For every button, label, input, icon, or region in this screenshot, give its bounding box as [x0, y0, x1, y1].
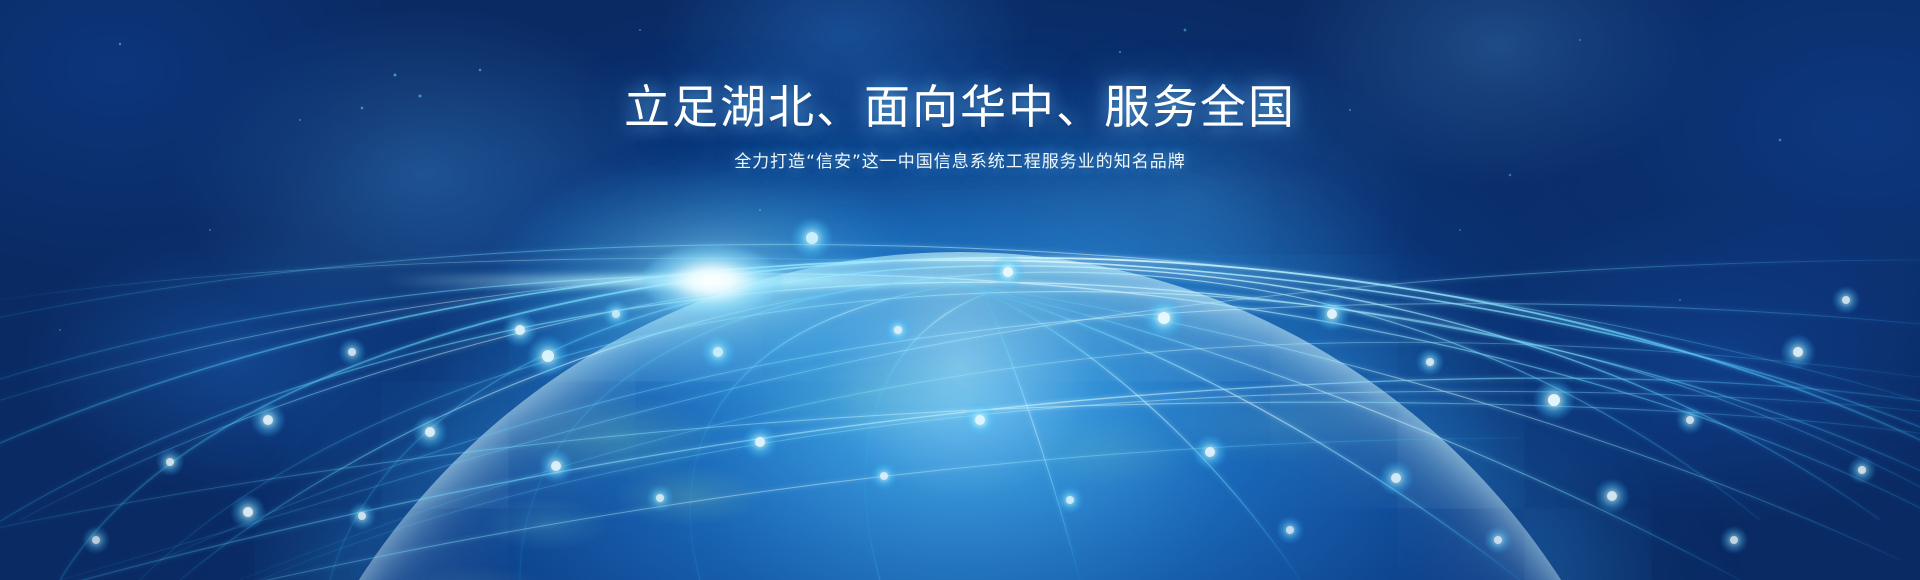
network-node [92, 536, 100, 544]
network-node [551, 461, 561, 471]
network-node [1842, 296, 1850, 304]
network-node [1327, 309, 1337, 319]
banner-text-block: 立足湖北、面向华中、服务全国 全力打造“信安”这一中国信息系统工程服务业的知名品… [0, 80, 1920, 174]
network-node [243, 507, 253, 517]
network-node [263, 415, 273, 425]
network-node [425, 427, 435, 437]
banner-subheadline: 全力打造“信安”这一中国信息系统工程服务业的知名品牌 [0, 150, 1920, 174]
network-node [1158, 312, 1170, 324]
network-node [1793, 347, 1803, 357]
network-node [755, 437, 765, 447]
network-arc [0, 274, 1920, 540]
network-node [1607, 491, 1617, 501]
network-node [975, 415, 985, 425]
network-arc [260, 391, 1920, 580]
network-node [1494, 536, 1502, 544]
network-node [880, 472, 888, 480]
network-node [1205, 447, 1215, 457]
banner-headline: 立足湖北、面向华中、服务全国 [0, 80, 1920, 134]
network-node [656, 494, 664, 502]
network-arc [0, 402, 1920, 540]
network-node [1391, 473, 1401, 483]
flare-core [642, 245, 782, 317]
network-node [1548, 394, 1560, 406]
network-node [358, 512, 366, 520]
network-arc [0, 378, 1920, 580]
network-node [1066, 496, 1074, 504]
network-node [1686, 416, 1694, 424]
network-node [1730, 536, 1738, 544]
network-arc [0, 282, 1920, 560]
hero-banner: 立足湖北、面向华中、服务全国 全力打造“信安”这一中国信息系统工程服务业的知名品… [0, 0, 1920, 580]
network-arc [140, 292, 1920, 580]
network-node [166, 458, 174, 466]
arc-group [0, 244, 1920, 580]
network-node [348, 348, 356, 356]
network-arc [0, 260, 1920, 470]
network-node [1286, 526, 1294, 534]
network-node [1858, 466, 1866, 474]
network-node [1426, 358, 1434, 366]
